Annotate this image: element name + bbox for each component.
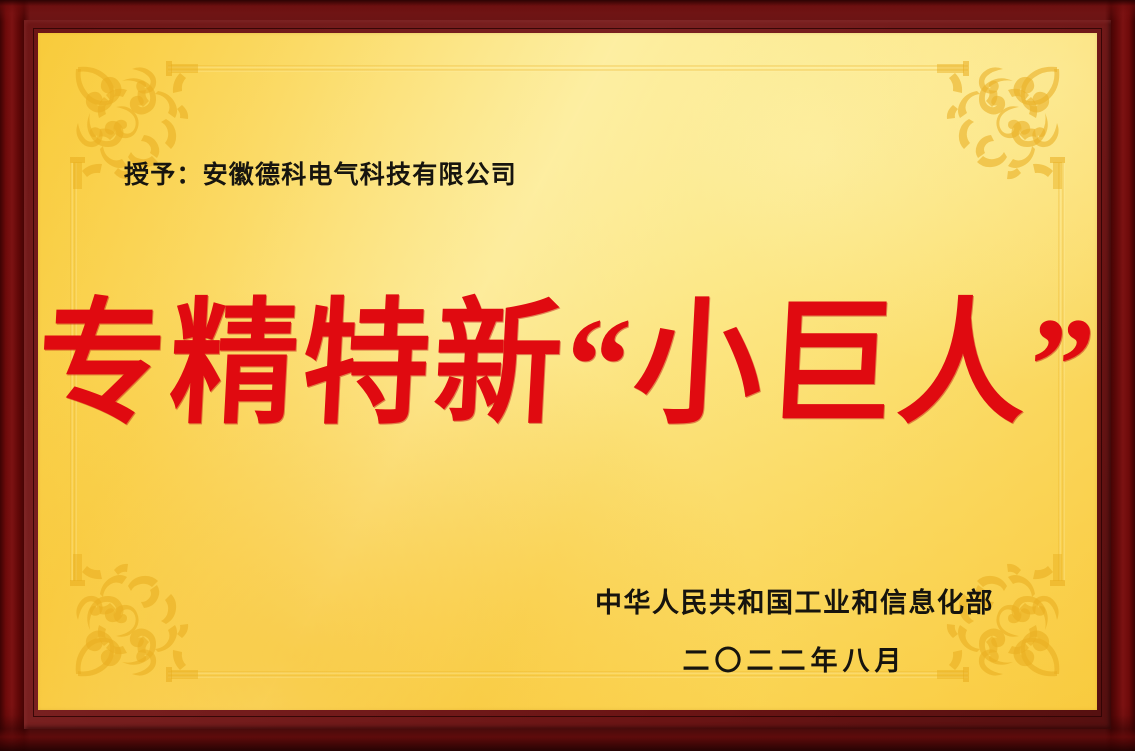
award-plaque: 授予：安徽德科电气科技有限公司 专精特新“小巨人”企业 中华人民共和国工业和信息… bbox=[0, 0, 1135, 751]
issuer-block: 中华人民共和国工业和信息化部 二〇二二年八月 bbox=[595, 581, 994, 678]
issue-date: 二〇二二年八月 bbox=[595, 639, 994, 678]
floral-corner-ornament-icon bbox=[933, 61, 1065, 193]
plaque-main-title: 专精特新“小巨人”企业 bbox=[38, 297, 1097, 433]
gold-plate: 授予：安徽德科电气科技有限公司 专精特新“小巨人”企业 中华人民共和国工业和信息… bbox=[38, 33, 1097, 710]
awardee-line: 授予：安徽德科电气科技有限公司 bbox=[124, 155, 517, 191]
border-rule-top bbox=[168, 65, 968, 72]
floral-corner-ornament-icon bbox=[70, 550, 202, 682]
issuing-authority: 中华人民共和国工业和信息化部 bbox=[595, 581, 994, 620]
